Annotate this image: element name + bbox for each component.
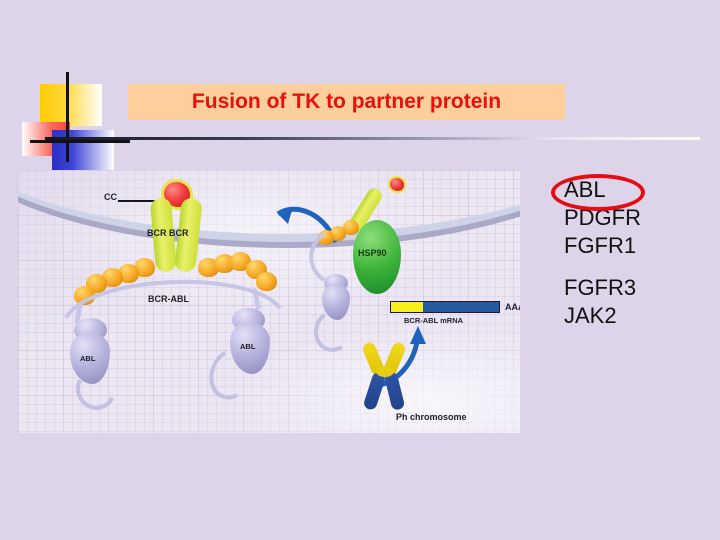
- gene-item-pdgfr[interactable]: PDGFR: [564, 204, 704, 232]
- gene-item-abl[interactable]: ABL: [564, 176, 704, 204]
- mrna-bcr-segment: [391, 302, 423, 312]
- bcr-bcr-label: BCR BCR: [147, 228, 189, 238]
- nascent-strand: [304, 230, 342, 290]
- chromosome-centromere: [376, 366, 394, 377]
- cc-label: CC: [104, 192, 117, 202]
- gene-item-fgfr1[interactable]: FGFR1: [564, 232, 704, 260]
- logo-horizontal-line: [30, 140, 130, 143]
- abl-left-label: ABL: [80, 354, 95, 363]
- poly-a-label: AAA: [505, 302, 520, 312]
- logo-yellow-square: [40, 84, 102, 126]
- decorative-logo: [22, 72, 130, 162]
- page-title: Fusion of TK to partner protein: [192, 90, 501, 114]
- mrna-abl-segment: [423, 302, 499, 312]
- slide-title-banner: Fusion of TK to partner protein: [128, 84, 565, 120]
- ph-chromosome-label: Ph chromosome: [396, 412, 467, 422]
- bcr-abl-mrna-bar: [390, 301, 500, 313]
- title-divider-line: [45, 137, 700, 140]
- logo-vertical-line: [66, 72, 69, 162]
- gene-list: ABL PDGFR FGFR1 FGFR3 JAK2: [564, 176, 704, 330]
- gene-item-jak2[interactable]: JAK2: [564, 302, 704, 330]
- bcr-abl-diagram-image: CC BCR BCR BCR-ABL ABL ABL HSP90: [18, 170, 520, 433]
- dimer-outer-strand: [48, 266, 298, 326]
- gene-list-spacer: [564, 260, 704, 274]
- hsp90-label: HSP90: [358, 248, 387, 258]
- gene-item-fgfr3[interactable]: FGFR3: [564, 274, 704, 302]
- cc-domain-nascent: [388, 176, 406, 193]
